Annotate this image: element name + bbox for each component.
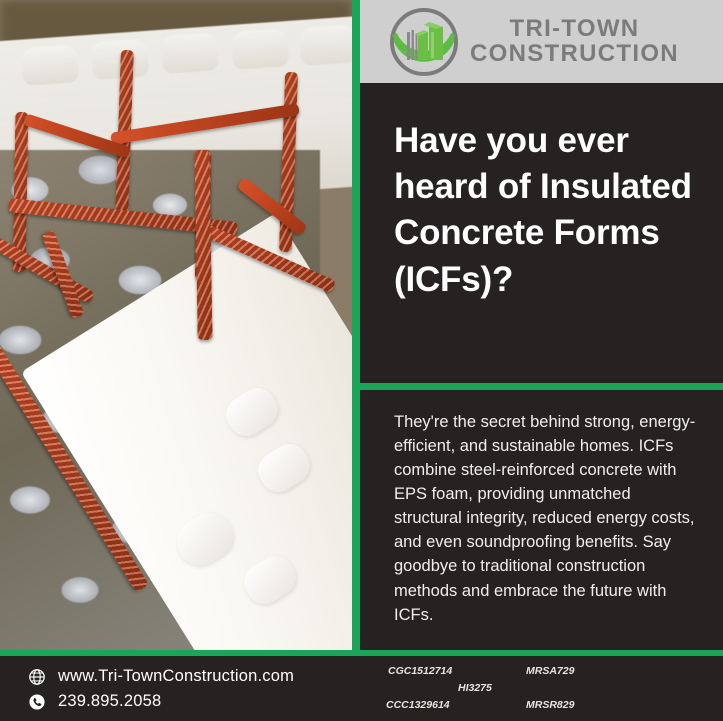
building-circle-logo-icon: [388, 6, 460, 78]
license-mrsr: MRSR829: [526, 699, 574, 711]
photo-canvas: [0, 0, 352, 650]
vertical-green-divider: [352, 0, 360, 650]
website-row[interactable]: www.Tri-TownConstruction.com: [28, 664, 294, 689]
license-ccc: CCC1329614: [386, 699, 450, 711]
body-paragraph: They're the secret behind strong, energy…: [394, 410, 699, 627]
hero-photo: [0, 0, 352, 650]
phone-row[interactable]: 239.895.2058: [28, 689, 294, 714]
photo-overlay: [0, 0, 352, 650]
license-cgc: CGC1512714: [388, 665, 452, 677]
horizontal-green-divider: [360, 383, 723, 390]
phone-icon: [28, 693, 46, 711]
brand-line-2: CONSTRUCTION: [470, 42, 679, 66]
website-text[interactable]: www.Tri-TownConstruction.com: [58, 667, 294, 686]
contact-block: www.Tri-TownConstruction.com 239.895.205…: [28, 664, 294, 714]
page-title: Have you ever heard of Insulated Concret…: [394, 118, 694, 303]
brand-line-1: TRI-TOWN: [510, 17, 640, 41]
license-hi: HI3275: [458, 682, 492, 694]
license-numbers: CGC1512714 MRSA729 HI3275 CCC1329614 MRS…: [386, 661, 611, 717]
brand-header: TRI-TOWN CONSTRUCTION: [360, 0, 723, 83]
phone-text[interactable]: 239.895.2058: [58, 692, 161, 711]
promotional-poster: TRI-TOWN CONSTRUCTION Have you ever hear…: [0, 0, 723, 721]
license-mrsa: MRSA729: [526, 665, 574, 677]
brand-name: TRI-TOWN CONSTRUCTION: [470, 17, 679, 66]
footer: www.Tri-TownConstruction.com 239.895.205…: [0, 656, 723, 721]
globe-icon: [28, 668, 46, 686]
